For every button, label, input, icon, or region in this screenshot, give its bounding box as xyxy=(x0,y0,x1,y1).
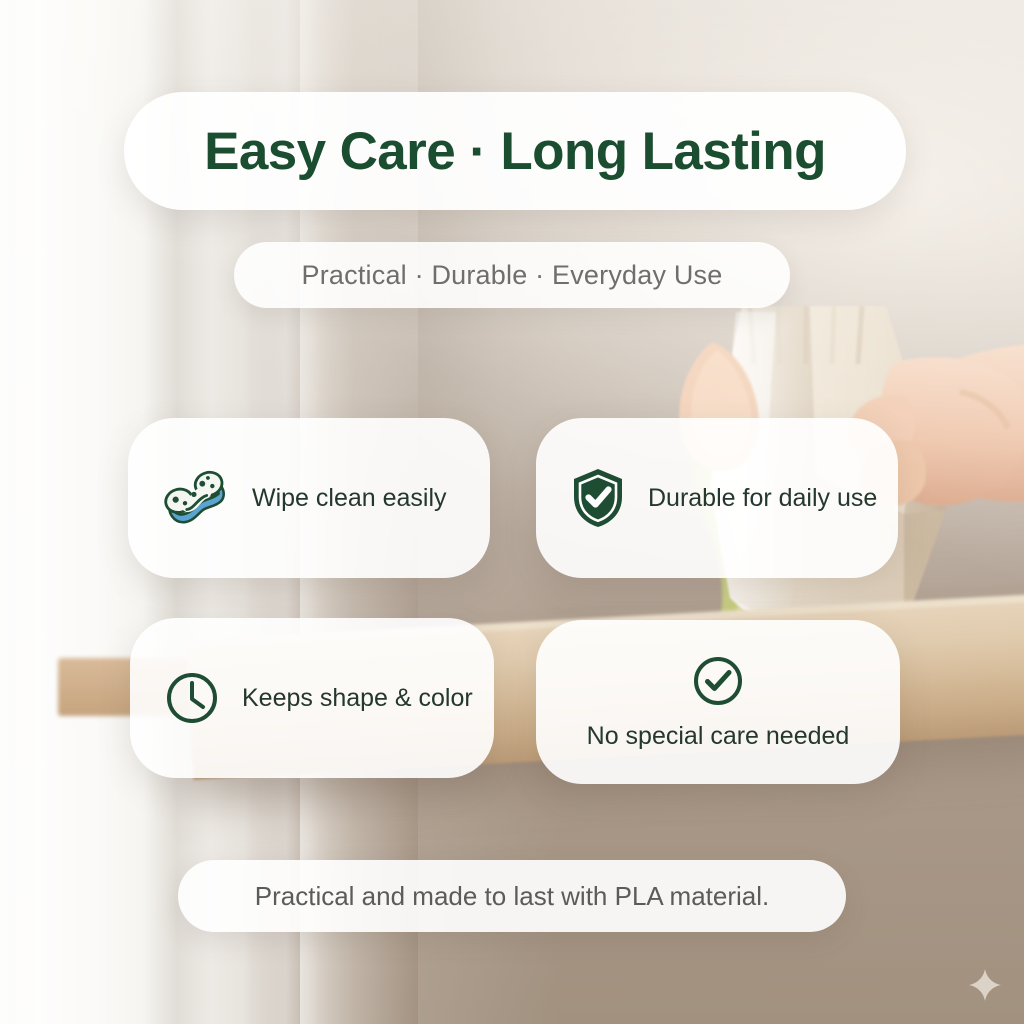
page-title: Easy Care · Long Lasting xyxy=(204,121,826,182)
shield-check-icon xyxy=(570,467,626,529)
sparkle-icon xyxy=(968,968,1002,1002)
subtitle-pill: Practical · Durable · Everyday Use xyxy=(234,242,790,308)
feature-card-durable[interactable]: Durable for daily use xyxy=(536,418,898,578)
footer-pill: Practical and made to last with PLA mate… xyxy=(178,860,846,932)
feature-label: Wipe clean easily xyxy=(252,484,447,513)
feature-card-wipe-clean[interactable]: Wipe clean easily xyxy=(128,418,490,578)
feature-label: No special care needed xyxy=(587,722,850,751)
overlay-content: Easy Care · Long Lasting Practical · Dur… xyxy=(0,0,1024,1024)
title-pill: Easy Care · Long Lasting xyxy=(124,92,906,210)
check-circle-icon xyxy=(691,654,745,708)
feature-label: Durable for daily use xyxy=(648,484,877,513)
footer-text: Practical and made to last with PLA mate… xyxy=(255,881,769,912)
feature-card-keeps-shape[interactable]: Keeps shape & color xyxy=(130,618,494,778)
feature-label: Keeps shape & color xyxy=(242,684,473,713)
clock-icon xyxy=(164,670,220,726)
sponge-icon xyxy=(162,470,230,526)
feature-card-no-special-care[interactable]: No special care needed xyxy=(536,620,900,784)
infographic-canvas: Easy Care · Long Lasting Practical · Dur… xyxy=(0,0,1024,1024)
page-subtitle: Practical · Durable · Everyday Use xyxy=(302,260,723,291)
